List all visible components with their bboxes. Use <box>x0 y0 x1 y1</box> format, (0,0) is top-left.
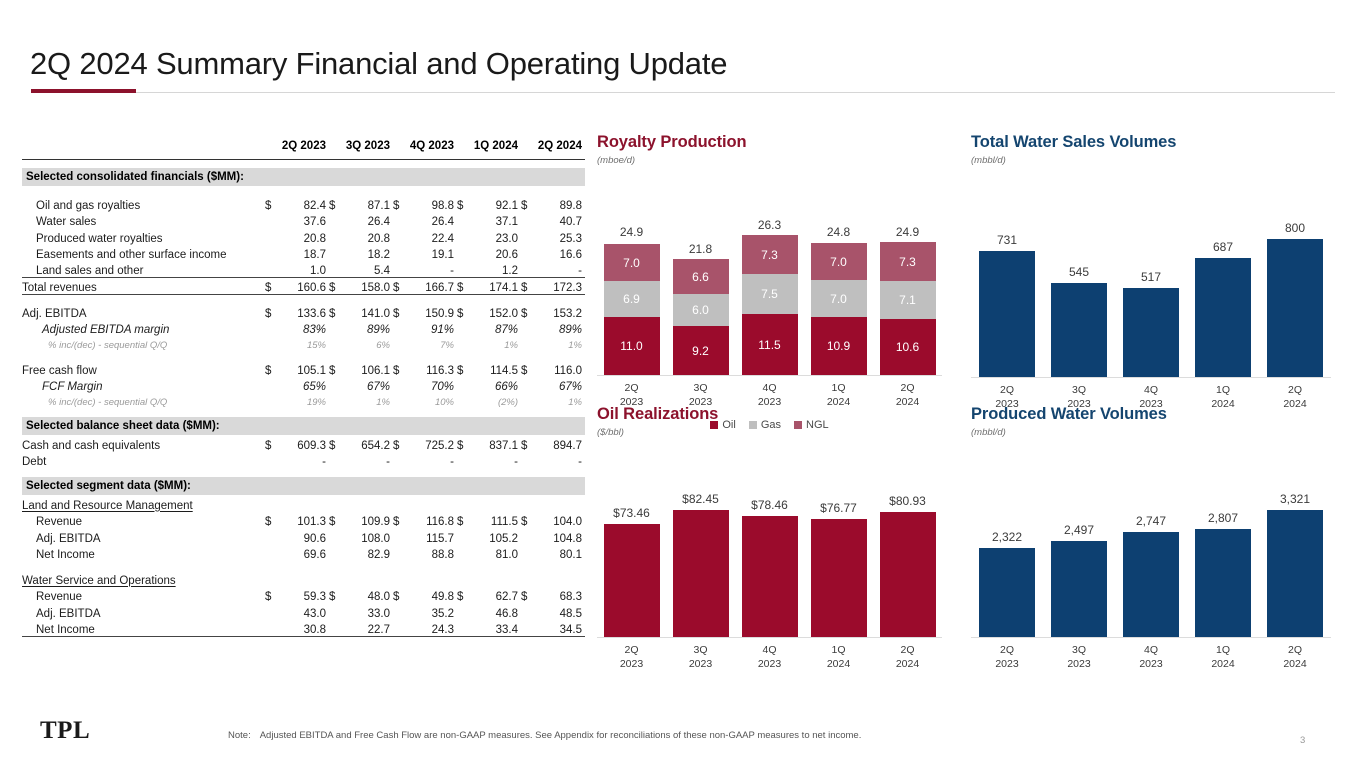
bar-value-label: 2,497 <box>1043 523 1115 537</box>
table-cell: 88.8 <box>406 545 457 562</box>
x-axis-line <box>971 377 1331 378</box>
x-axis-label: 2Q2023 <box>597 644 666 671</box>
bar-total-label: 24.8 <box>804 225 873 239</box>
bar <box>604 524 660 637</box>
bar-segment-oil: 10.6 <box>880 319 936 375</box>
bar-slot: 2,497 <box>1043 477 1115 637</box>
x-axis-label-line2: 2023 <box>971 658 1043 672</box>
table-cell: 23.0 <box>470 228 521 245</box>
section-header-fill <box>265 477 585 495</box>
table-cell: 49.8 <box>406 587 457 604</box>
x-axis-label-line1: 2Q <box>597 644 666 658</box>
currency-symbol <box>521 320 534 337</box>
bar-segment-gas: 7.0 <box>811 280 867 317</box>
currency-symbol: $ <box>521 360 534 377</box>
currency-symbol: $ <box>457 435 470 452</box>
currency-symbol <box>265 245 278 262</box>
table-cell: 37.1 <box>470 212 521 229</box>
bar-slot: 24.87.07.010.9 <box>804 207 873 375</box>
table-cell: 48.0 <box>342 587 393 604</box>
table-cell: 104.8 <box>534 528 585 545</box>
table-cell: 80.1 <box>534 545 585 562</box>
table-cell: 15% <box>278 336 329 351</box>
table-cell: 30.8 <box>278 620 329 637</box>
currency-symbol <box>521 393 534 408</box>
spacer-row <box>22 351 585 360</box>
currency-symbol: $ <box>393 278 406 295</box>
table-row: Revenue$101.3$109.9$116.8$111.5$104.0 <box>22 512 585 529</box>
column-header: 3Q 2023 <box>342 140 393 157</box>
currency-symbol <box>457 528 470 545</box>
bar-segment-ngl: 7.3 <box>880 242 936 281</box>
bar-slot: 2,747 <box>1115 477 1187 637</box>
currency-symbol: $ <box>457 278 470 295</box>
x-axis-label-line2: 2024 <box>1187 658 1259 672</box>
x-axis-label-line1: 3Q <box>666 382 735 396</box>
x-axis-label-line1: 2Q <box>1259 644 1331 658</box>
currency-symbol <box>265 377 278 394</box>
row-label: Land sales and other <box>22 261 265 278</box>
currency-symbol <box>393 620 406 637</box>
currency-symbol <box>521 545 534 562</box>
table-row: Net Income30.822.724.333.434.5 <box>22 620 585 637</box>
currency-symbol: $ <box>329 435 342 452</box>
currency-symbol: $ <box>329 303 342 320</box>
title-accent-bar <box>31 89 136 93</box>
currency-symbol <box>329 620 342 637</box>
currency-symbol <box>329 245 342 262</box>
stacked-bar: 7.37.110.6 <box>880 242 936 375</box>
currency-symbol: $ <box>265 195 278 212</box>
row-label: Produced water royalties <box>22 228 265 245</box>
currency-symbol: $ <box>457 195 470 212</box>
x-axis-label-line1: 2Q <box>1259 384 1331 398</box>
table-cell: 68.3 <box>534 587 585 604</box>
bar-total-label: 24.9 <box>597 225 666 239</box>
table-cell: 108.0 <box>342 528 393 545</box>
bar-slot: 24.97.06.911.0 <box>597 207 666 375</box>
currency-symbol <box>265 603 278 620</box>
table-row: Adj. EBITDA90.6108.0115.7105.2104.8 <box>22 528 585 545</box>
currency-symbol: $ <box>393 435 406 452</box>
currency-symbol <box>265 228 278 245</box>
currency-symbol: $ <box>521 303 534 320</box>
bar-slot: 731 <box>971 207 1043 377</box>
bar-slot: 517 <box>1115 207 1187 377</box>
table-cell: 26.4 <box>342 212 393 229</box>
currency-symbol <box>457 452 470 469</box>
table-cell: 166.7 <box>406 278 457 295</box>
section-header-label: Selected segment data ($MM): <box>22 477 265 495</box>
x-axis-label: 2Q2024 <box>873 644 942 671</box>
row-label: % inc/(dec) - sequential Q/Q <box>22 393 265 408</box>
table-cell: 90.6 <box>278 528 329 545</box>
column-header: 1Q 2024 <box>470 140 521 157</box>
bar-segment-oil: 9.2 <box>673 326 729 375</box>
chart-panel-royalty-production: Royalty Production (mboe/d) 24.97.06.911… <box>597 133 947 431</box>
table-cell: 116.0 <box>534 360 585 377</box>
currency-symbol <box>457 393 470 408</box>
table-cell: 33.4 <box>470 620 521 637</box>
bar-slot: 2,322 <box>971 477 1043 637</box>
table-cell: 89% <box>534 320 585 337</box>
table-cell: 70% <box>406 377 457 394</box>
table-cell: 133.6 <box>278 303 329 320</box>
bar-total-label: 21.8 <box>666 242 735 256</box>
currency-symbol <box>457 320 470 337</box>
bar <box>1267 510 1323 637</box>
table-row: % inc/(dec) - sequential Q/Q19%1%10%(2%)… <box>22 393 585 408</box>
table-cell: 35.2 <box>406 603 457 620</box>
bar-value-label: $76.77 <box>804 501 873 515</box>
currency-symbol <box>521 336 534 351</box>
x-axis-label: 2Q2024 <box>1259 644 1331 671</box>
currency-symbol <box>457 336 470 351</box>
table-cell: 89.8 <box>534 195 585 212</box>
table-cell: 18.2 <box>342 245 393 262</box>
table-cell: - <box>278 452 329 469</box>
currency-symbol <box>265 336 278 351</box>
x-axis-label-line1: 2Q <box>597 382 666 396</box>
currency-symbol <box>329 261 342 278</box>
currency-symbol <box>393 545 406 562</box>
currency-symbol <box>265 545 278 562</box>
page-number: 3 <box>1300 735 1305 746</box>
chart-panel-produced-water: Produced Water Volumes (mbbl/d) 2,3222,4… <box>971 405 1336 671</box>
currency-symbol <box>393 261 406 278</box>
x-axis-labels: 2Q20233Q20234Q20231Q20242Q2024 <box>971 644 1331 671</box>
spacer-row <box>22 468 585 477</box>
bar <box>1051 541 1107 637</box>
currency-symbol <box>329 377 342 394</box>
table-cell: 20.8 <box>342 228 393 245</box>
section-header-row: Selected segment data ($MM): <box>22 477 585 495</box>
table-cell: 152.0 <box>470 303 521 320</box>
stacked-bar: 6.66.09.2 <box>673 259 729 375</box>
segment-value-label: 7.0 <box>830 255 847 269</box>
table-cell: 98.8 <box>406 195 457 212</box>
currency-symbol <box>457 228 470 245</box>
segment-value-label: 6.9 <box>623 292 640 306</box>
x-axis-label-line1: 1Q <box>804 644 873 658</box>
table-cell: 26.4 <box>406 212 457 229</box>
table-row: Land sales and other1.05.4-1.2- <box>22 261 585 278</box>
table-row: Total revenues$160.6$158.0$166.7$174.1$1… <box>22 278 585 295</box>
table-cell: 37.6 <box>278 212 329 229</box>
currency-symbol: $ <box>521 278 534 295</box>
table-cell: 10% <box>406 393 457 408</box>
chart-panel-oil-realizations: Oil Realizations ($/bbl) $73.46$82.45$78… <box>597 405 947 671</box>
x-axis-label: 2Q2023 <box>971 644 1043 671</box>
segment-value-label: 7.3 <box>899 255 916 269</box>
segment-value-label: 11.0 <box>620 339 642 353</box>
table-cell: 5.4 <box>342 261 393 278</box>
currency-symbol <box>329 393 342 408</box>
currency-symbol <box>329 336 342 351</box>
table-cell: 82.9 <box>342 545 393 562</box>
currency-symbol: $ <box>521 195 534 212</box>
bar-slot: 2,807 <box>1187 477 1259 637</box>
table-row: % inc/(dec) - sequential Q/Q15%6%7%1%1% <box>22 336 585 351</box>
x-axis-label-line1: 4Q <box>735 644 804 658</box>
currency-symbol <box>457 245 470 262</box>
bar-value-label: $78.46 <box>735 498 804 512</box>
financial-table-wrapper: 2Q 20233Q 20234Q 20231Q 20242Q 2024Selec… <box>22 140 585 637</box>
table-cell: 89% <box>342 320 393 337</box>
bar-segment-ngl: 7.0 <box>604 244 660 281</box>
spacer-row <box>22 186 585 195</box>
table-row: Adj. EBITDA43.033.035.246.848.5 <box>22 603 585 620</box>
table-row: Cash and cash equivalents$609.3$654.2$72… <box>22 435 585 452</box>
bar <box>1123 288 1179 377</box>
bar <box>811 519 867 637</box>
currency-symbol <box>393 228 406 245</box>
x-axis-label-line2: 2023 <box>735 658 804 672</box>
table-cell: 69.6 <box>278 545 329 562</box>
currency-symbol <box>265 261 278 278</box>
chart-plot-area: 731545517687800 <box>971 208 1331 378</box>
chart-unit: ($/bbl) <box>597 427 947 438</box>
table-cell: 116.3 <box>406 360 457 377</box>
bars-container: 24.97.06.911.021.86.66.09.226.37.37.511.… <box>597 207 942 375</box>
table-cell: - <box>406 452 457 469</box>
row-label: Oil and gas royalties <box>22 195 265 212</box>
bar <box>1195 529 1251 637</box>
section-header-row: Selected consolidated financials ($MM): <box>22 168 585 186</box>
table-cell: 62.7 <box>470 587 521 604</box>
bar-total-label: 26.3 <box>735 218 804 232</box>
row-label: Revenue <box>22 512 265 529</box>
table-cell: - <box>470 452 521 469</box>
table-cell: - <box>406 261 457 278</box>
currency-symbol <box>521 212 534 229</box>
x-axis-label-line2: 2023 <box>1043 658 1115 672</box>
table-cell: 101.3 <box>278 512 329 529</box>
currency-symbol: $ <box>265 512 278 529</box>
currency-symbol: $ <box>521 435 534 452</box>
x-axis-labels: 2Q20233Q20234Q20231Q20242Q2024 <box>597 644 942 671</box>
bar-total-label: 24.9 <box>873 225 942 239</box>
row-label: Net Income <box>22 545 265 562</box>
bar-value-label: 687 <box>1187 240 1259 254</box>
chart-panel-total-water-sales: Total Water Sales Volumes (mbbl/d) 73154… <box>971 133 1336 411</box>
table-row: Oil and gas royalties$82.4$87.1$98.8$92.… <box>22 195 585 212</box>
bar-value-label: 545 <box>1043 265 1115 279</box>
currency-symbol <box>457 261 470 278</box>
bar-segment-ngl: 7.3 <box>742 235 798 274</box>
subhead-fill <box>265 570 585 587</box>
currency-symbol: $ <box>521 512 534 529</box>
x-axis-label: 3Q2023 <box>666 644 735 671</box>
row-label: Water sales <box>22 212 265 229</box>
currency-symbol <box>265 620 278 637</box>
table-cell: - <box>534 261 585 278</box>
bar-slot: 800 <box>1259 207 1331 377</box>
section-header-fill <box>265 168 585 186</box>
table-cell: 105.2 <box>470 528 521 545</box>
tpl-logo: TPL <box>40 717 90 745</box>
currency-symbol <box>329 603 342 620</box>
segment-value-label: 7.3 <box>761 248 778 262</box>
row-label: Total revenues <box>22 278 265 295</box>
table-cell: 34.5 <box>534 620 585 637</box>
currency-symbol: $ <box>265 435 278 452</box>
x-axis-label-line1: 3Q <box>1043 384 1115 398</box>
bar <box>979 251 1035 377</box>
table-cell: 82.4 <box>278 195 329 212</box>
table-cell: 19% <box>278 393 329 408</box>
column-header: 2Q 2023 <box>278 140 329 157</box>
table-cell: 150.9 <box>406 303 457 320</box>
table-cell: 33.0 <box>342 603 393 620</box>
bar-slot: 545 <box>1043 207 1115 377</box>
bar-value-label: 3,321 <box>1259 492 1331 506</box>
chart-plot-area: 24.97.06.911.021.86.66.09.226.37.37.511.… <box>597 208 942 376</box>
table-cell: 18.7 <box>278 245 329 262</box>
bar-value-label: 2,322 <box>971 530 1043 544</box>
table-cell: 40.7 <box>534 212 585 229</box>
bar-segment-oil: 10.9 <box>811 317 867 375</box>
table-cell: 174.1 <box>470 278 521 295</box>
section-header-label: Selected consolidated financials ($MM): <box>22 168 265 186</box>
table-cell: 725.2 <box>406 435 457 452</box>
table-cell: 67% <box>534 377 585 394</box>
table-cell: - <box>342 452 393 469</box>
currency-symbol: $ <box>457 360 470 377</box>
table-cell: (2%) <box>470 393 521 408</box>
currency-symbol: $ <box>329 512 342 529</box>
currency-symbol <box>393 377 406 394</box>
row-label: Cash and cash equivalents <box>22 435 265 452</box>
bar <box>1267 239 1323 377</box>
bars-container: 731545517687800 <box>971 207 1331 377</box>
x-axis-label-line2: 2023 <box>1115 658 1187 672</box>
bar-segment-ngl: 7.0 <box>811 243 867 280</box>
table-cell: 20.6 <box>470 245 521 262</box>
currency-symbol <box>329 545 342 562</box>
bar <box>1051 283 1107 377</box>
x-axis-label-line2: 2024 <box>804 658 873 672</box>
currency-symbol <box>521 603 534 620</box>
bar-segment-oil: 11.5 <box>742 314 798 375</box>
spacer-row <box>22 561 585 570</box>
currency-symbol: $ <box>521 587 534 604</box>
currency-symbol <box>521 261 534 278</box>
currency-symbol <box>265 452 278 469</box>
table-cell: 24.3 <box>406 620 457 637</box>
currency-symbol <box>329 320 342 337</box>
financial-table: 2Q 20233Q 20234Q 20231Q 20242Q 2024Selec… <box>22 140 585 637</box>
chart-plot-area: 2,3222,4972,7472,8073,321 <box>971 478 1331 638</box>
table-row: Free cash flow$105.1$106.1$116.3$114.5$1… <box>22 360 585 377</box>
x-axis-label-line1: 1Q <box>1187 644 1259 658</box>
table-cell: 43.0 <box>278 603 329 620</box>
footnote-label: Note: <box>228 730 251 741</box>
bar-value-label: $73.46 <box>597 506 666 520</box>
table-cell: 66% <box>470 377 521 394</box>
x-axis-label-line1: 2Q <box>873 644 942 658</box>
row-label: Adj. EBITDA <box>22 603 265 620</box>
currency-symbol: $ <box>265 587 278 604</box>
currency-symbol <box>521 245 534 262</box>
spacer-row <box>22 294 585 303</box>
currency-symbol: $ <box>265 278 278 295</box>
table-cell: 6% <box>342 336 393 351</box>
table-cell: 46.8 <box>470 603 521 620</box>
bar-value-label: $82.45 <box>666 492 735 506</box>
footnote-text: Adjusted EBITDA and Free Cash Flow are n… <box>260 730 862 741</box>
table-cell: 83% <box>278 320 329 337</box>
table-cell: 654.2 <box>342 435 393 452</box>
table-cell: 22.7 <box>342 620 393 637</box>
bar-slot: 3,321 <box>1259 477 1331 637</box>
table-cell: 837.1 <box>470 435 521 452</box>
currency-symbol: $ <box>329 360 342 377</box>
table-cell: 22.4 <box>406 228 457 245</box>
bar-slot: 687 <box>1187 207 1259 377</box>
bar-value-label: 517 <box>1115 270 1187 284</box>
column-header: 4Q 2023 <box>406 140 457 157</box>
row-label: Easements and other surface income <box>22 245 265 262</box>
chart-title: Produced Water Volumes <box>971 405 1336 424</box>
currency-symbol: $ <box>457 303 470 320</box>
table-cell: 609.3 <box>278 435 329 452</box>
bar-slot: 21.86.66.09.2 <box>666 207 735 375</box>
row-label: Net Income <box>22 620 265 637</box>
segment-value-label: 6.0 <box>692 303 709 317</box>
table-subhead-row: Water Service and Operations <box>22 570 585 587</box>
chart-unit: (mboe/d) <box>597 155 947 166</box>
column-header: 2Q 2024 <box>534 140 585 157</box>
x-axis-label-line2: 2023 <box>597 658 666 672</box>
row-label: % inc/(dec) - sequential Q/Q <box>22 336 265 351</box>
bar-segment-gas: 6.9 <box>604 281 660 317</box>
bar <box>742 516 798 637</box>
x-axis-label-line1: 3Q <box>1043 644 1115 658</box>
segment-value-label: 7.5 <box>761 287 778 301</box>
bar-value-label: 731 <box>971 233 1043 247</box>
bar-slot: $82.45 <box>666 477 735 637</box>
title-rule <box>31 92 1335 93</box>
x-axis-label-line2: 2024 <box>1259 658 1331 672</box>
x-axis-line <box>971 637 1331 638</box>
x-axis-label-line1: 2Q <box>971 644 1043 658</box>
bar-slot: $73.46 <box>597 477 666 637</box>
table-cell: 91% <box>406 320 457 337</box>
bar <box>1123 532 1179 637</box>
segment-value-label: 7.0 <box>830 292 847 306</box>
currency-symbol <box>393 603 406 620</box>
bar <box>979 548 1035 637</box>
stacked-bar: 7.06.911.0 <box>604 244 660 375</box>
currency-symbol <box>393 212 406 229</box>
table-cell: 109.9 <box>342 512 393 529</box>
bar-slot: 26.37.37.511.5 <box>735 207 804 375</box>
row-label: Free cash flow <box>22 360 265 377</box>
currency-symbol <box>393 393 406 408</box>
table-cell: 160.6 <box>278 278 329 295</box>
table-row: Easements and other surface income18.718… <box>22 245 585 262</box>
table-cell: 16.6 <box>534 245 585 262</box>
table-cell: 20.8 <box>278 228 329 245</box>
spacer-row <box>22 408 585 417</box>
x-axis-label-line1: 4Q <box>1115 644 1187 658</box>
chart-unit: (mbbl/d) <box>971 427 1336 438</box>
table-cell: 1% <box>534 393 585 408</box>
table-cell: 1% <box>534 336 585 351</box>
x-axis-label-line1: 1Q <box>804 382 873 396</box>
stacked-bar: 7.07.010.9 <box>811 243 867 375</box>
